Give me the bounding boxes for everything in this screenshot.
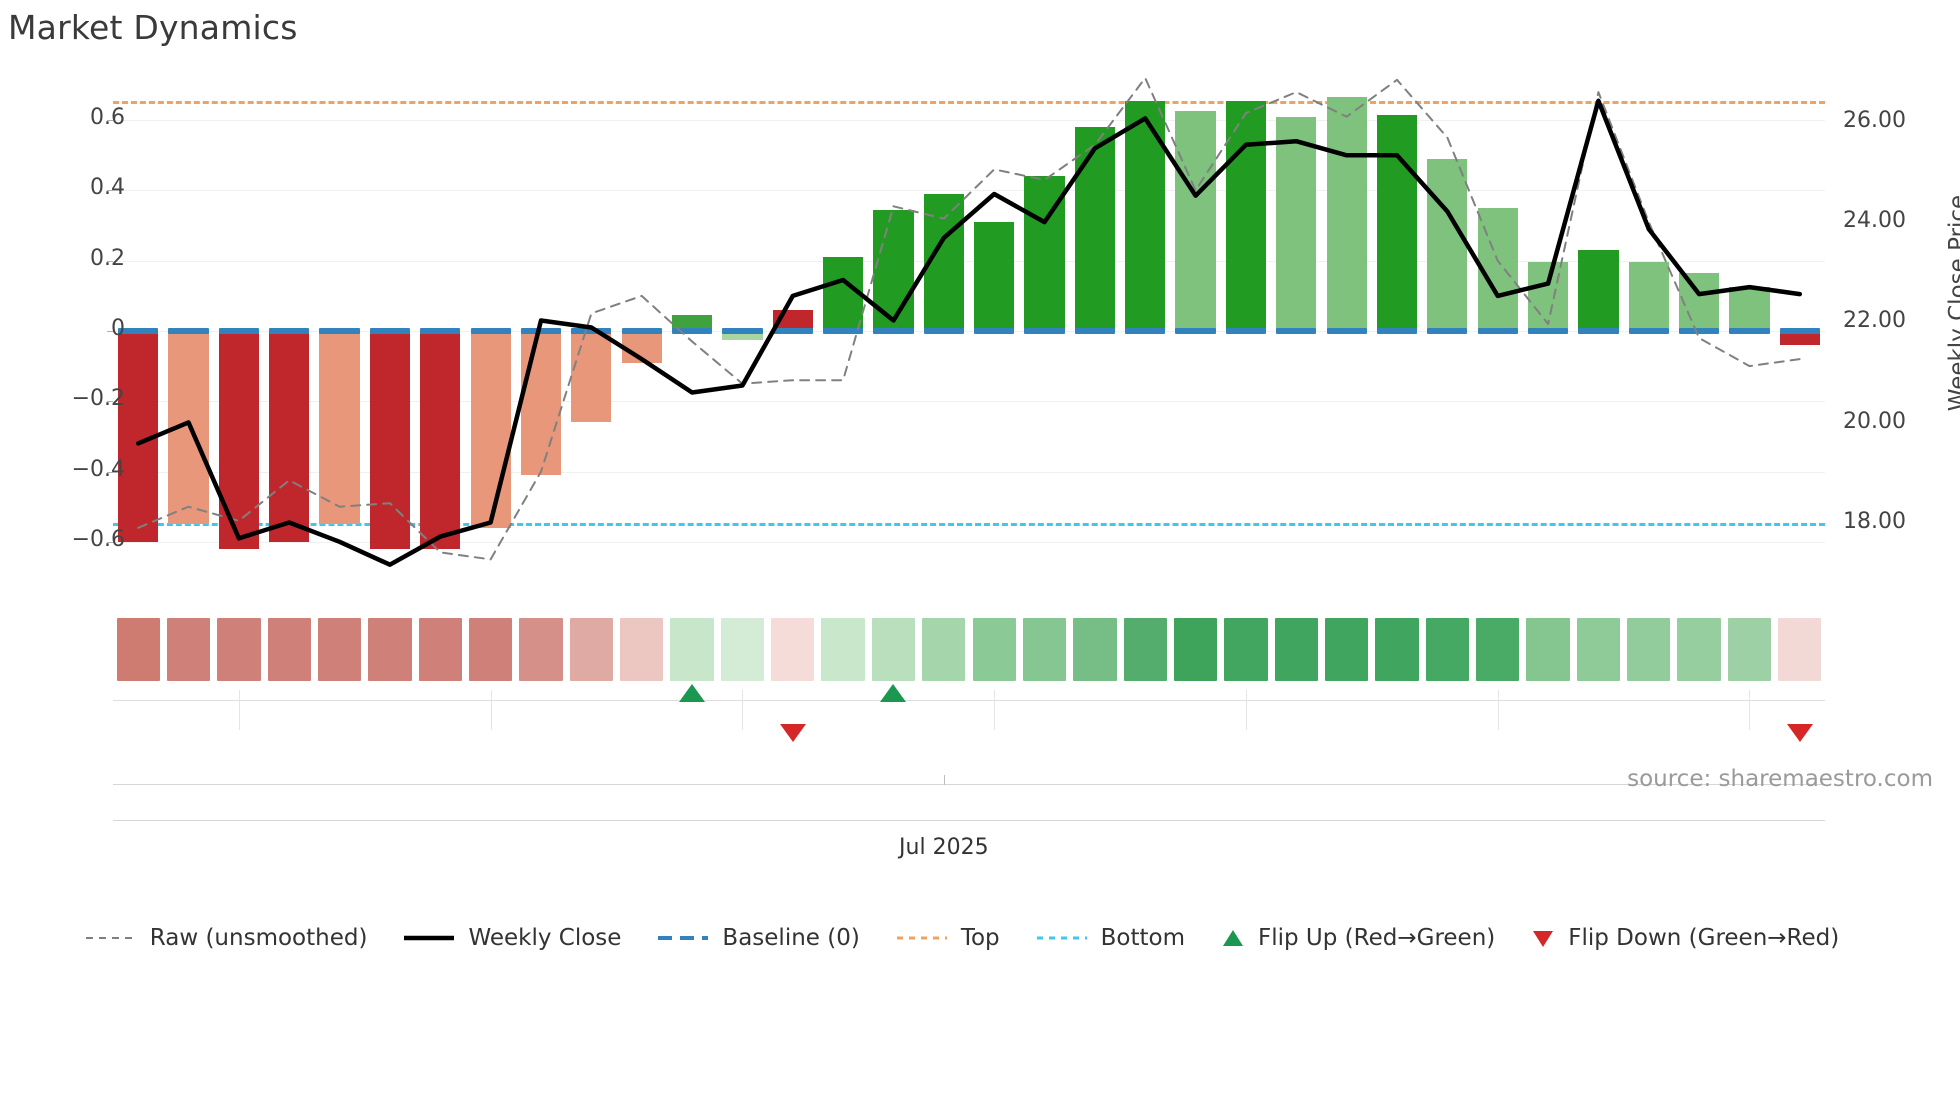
legend-item[interactable]: Baseline (0) (657, 925, 859, 951)
y-axis-left-tick-label: −0.2 (72, 386, 125, 411)
legend-label: Flip Up (Red→Green) (1258, 925, 1495, 951)
heat-strip-cell (419, 618, 462, 681)
legend-item[interactable]: Flip Up (Red→Green) (1221, 925, 1495, 951)
triangle-down-red-icon (1531, 926, 1555, 950)
flip-up-marker (880, 684, 906, 702)
legend-label: Top (961, 925, 1000, 951)
heat-strip-cell (1174, 618, 1217, 681)
y-axis-tick-mark (107, 542, 113, 543)
y-axis-tick-mark (107, 401, 113, 402)
heat-strip-cell (1275, 618, 1318, 681)
heat-strip-cell (1124, 618, 1167, 681)
minor-vertical-tick (239, 690, 240, 730)
heat-strip-cell (1677, 618, 1720, 681)
heat-strip-cell (1526, 618, 1569, 681)
footer-rule-bottom (113, 820, 1825, 821)
heat-strip-cell (670, 618, 713, 681)
solid-black-line-icon (403, 931, 455, 945)
heat-strip-cell (1023, 618, 1066, 681)
heat-strip-cell (1073, 618, 1116, 681)
heat-strip-cell (821, 618, 864, 681)
heat-strip-cell (620, 618, 663, 681)
y-axis-left-tick-label: −0.6 (72, 527, 125, 552)
heat-strip-cell (1577, 618, 1620, 681)
dotted-cyan-line-icon (1036, 931, 1088, 945)
minor-vertical-tick (491, 690, 492, 730)
legend-label: Bottom (1101, 925, 1185, 951)
y-axis-left-tick-label: 0 (111, 316, 125, 341)
raw-unsmoothed-line (138, 78, 1800, 559)
minor-vertical-tick (1749, 690, 1750, 730)
heat-strip-cell (318, 618, 361, 681)
y-axis-tick-mark (107, 261, 113, 262)
x-axis-tick-mark (944, 775, 945, 785)
legend-label: Baseline (0) (722, 925, 859, 951)
source-caption: source: sharemaestro.com (1627, 766, 1933, 792)
flip-marker-axis (113, 700, 1825, 701)
y-axis-left-tick-label: 0.6 (90, 105, 125, 130)
y-axis-tick-mark (107, 120, 113, 121)
y-axis-tick-mark (107, 190, 113, 191)
legend-item[interactable]: Flip Down (Green→Red) (1531, 925, 1839, 951)
heat-strip-cell (117, 618, 160, 681)
heat-strip-cell (771, 618, 814, 681)
heat-strip-cell (1476, 618, 1519, 681)
heat-strip-cell (721, 618, 764, 681)
heat-strip-cell (973, 618, 1016, 681)
dashed-blue-line-icon (657, 931, 709, 945)
y-axis-right-tick-label: 20.00 (1843, 409, 1906, 434)
chart-legend: Raw (unsmoothed)Weekly CloseBaseline (0)… (0, 925, 1960, 951)
heat-strip-cell (1778, 618, 1821, 681)
regime-heat-strip (113, 618, 1825, 681)
legend-item[interactable]: Weekly Close (403, 925, 621, 951)
legend-label: Weekly Close (468, 925, 621, 951)
dashed-gray-line-icon (85, 931, 137, 945)
y-axis-right-tick-label: 22.00 (1843, 308, 1906, 333)
footer-rule-top (113, 784, 1825, 785)
x-axis-tick-label: Jul 2025 (899, 835, 989, 860)
y-axis-right-label: Weekly Close Price (1945, 153, 1960, 453)
heat-strip-cell (217, 618, 260, 681)
heat-strip-cell (1325, 618, 1368, 681)
y-axis-left-tick-label: −0.4 (72, 457, 125, 482)
minor-vertical-tick (742, 690, 743, 730)
y-axis-left-tick-label: 0.4 (90, 175, 125, 200)
heat-strip-cell (872, 618, 915, 681)
heat-strip-cell (570, 618, 613, 681)
y-axis-right-tick-label: 24.00 (1843, 208, 1906, 233)
minor-vertical-tick (1246, 690, 1247, 730)
triangle-up-green-icon (1221, 926, 1245, 950)
y-axis-tick-mark (107, 331, 113, 332)
legend-item[interactable]: Top (896, 925, 1000, 951)
y-axis-left-tick-label: 0.2 (90, 246, 125, 271)
y-axis-tick-mark (107, 472, 113, 473)
chart-canvas: Market Dynamics Market Dynamics Weekly C… (0, 0, 1960, 1102)
minor-vertical-tick (1498, 690, 1499, 730)
heat-strip-cell (167, 618, 210, 681)
heat-strip-cell (368, 618, 411, 681)
heat-strip-cell (1627, 618, 1670, 681)
heat-strip-cell (519, 618, 562, 681)
heat-strip-cell (268, 618, 311, 681)
line-series-overlay (113, 78, 1825, 584)
legend-label: Raw (unsmoothed) (150, 925, 368, 951)
flip-down-marker (1787, 724, 1813, 742)
y-axis-right-tick-label: 18.00 (1843, 509, 1906, 534)
heat-strip-cell (1426, 618, 1469, 681)
y-axis-right-tick-label: 26.00 (1843, 108, 1906, 133)
chart-title: Market Dynamics (8, 8, 298, 47)
legend-item[interactable]: Raw (unsmoothed) (85, 925, 368, 951)
legend-label: Flip Down (Green→Red) (1568, 925, 1839, 951)
heat-strip-cell (469, 618, 512, 681)
flip-up-marker (679, 684, 705, 702)
dotted-orange-line-icon (896, 931, 948, 945)
weekly-close-line (138, 101, 1800, 565)
plot-area (113, 78, 1825, 584)
heat-strip-cell (1728, 618, 1771, 681)
legend-item[interactable]: Bottom (1036, 925, 1185, 951)
minor-vertical-tick (994, 690, 995, 730)
heat-strip-cell (1375, 618, 1418, 681)
heat-strip-cell (922, 618, 965, 681)
flip-down-marker (780, 724, 806, 742)
heat-strip-cell (1224, 618, 1267, 681)
